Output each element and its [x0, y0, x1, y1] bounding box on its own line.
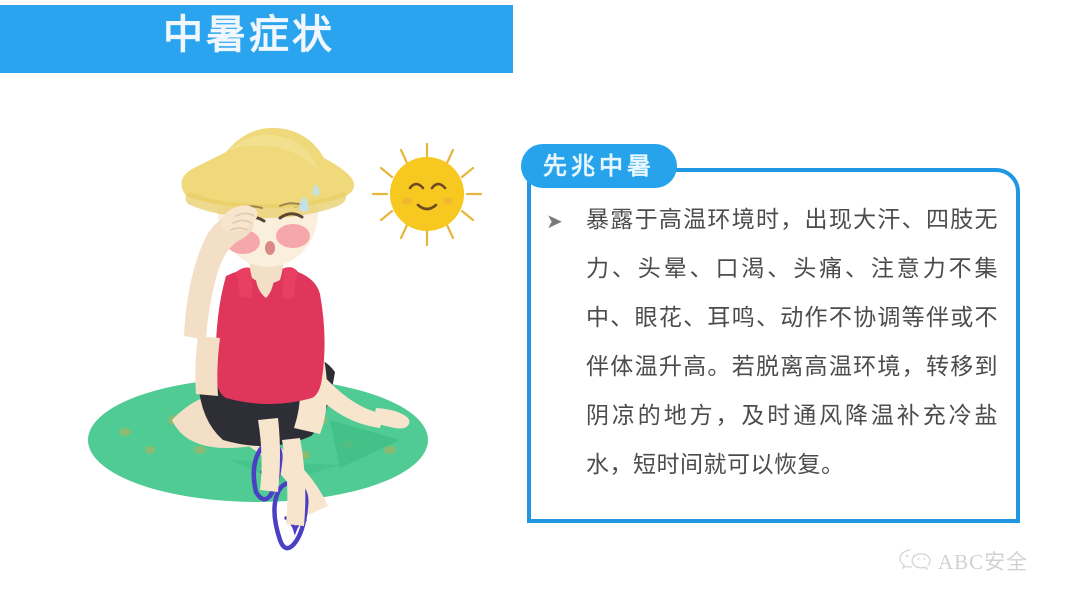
- wechat-logo-icon: [898, 547, 932, 575]
- section-number: 01: [82, 6, 172, 64]
- girl-sitting-icon: [80, 120, 440, 560]
- watermark-label: ABC安全: [938, 546, 1028, 576]
- watermark: ABC安全: [898, 546, 1028, 576]
- card-label-pill: 先兆中暑: [521, 144, 677, 188]
- page-title: 中暑症状: [163, 4, 335, 66]
- arrow-bullet-icon: ➤: [546, 196, 586, 244]
- symptom-description-text: 暴露于高温环境时，出现大汗、四肢无力、头晕、口渴、头痛、注意力不集中、眼花、耳鸣…: [586, 196, 998, 490]
- illustration-area: [60, 110, 510, 560]
- bullet-item: ➤ 暴露于高温环境时，出现大汗、四肢无力、头晕、口渴、头痛、注意力不集中、眼花、…: [546, 196, 998, 490]
- girl-illustration: [80, 120, 440, 560]
- card-body: ➤ 暴露于高温环境时，出现大汗、四肢无力、头晕、口渴、头痛、注意力不集中、眼花、…: [546, 196, 998, 490]
